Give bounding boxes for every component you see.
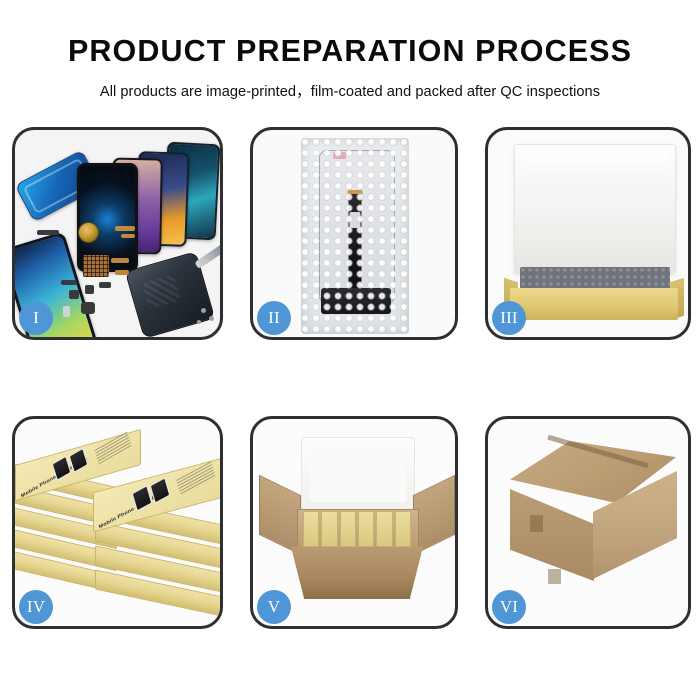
camera-module-icon (81, 302, 95, 314)
screw-icon (209, 316, 214, 321)
part-square-icon (85, 285, 94, 294)
flex-cable-icon (121, 234, 135, 238)
page-title: PRODUCT PREPARATION PROCESS (0, 0, 700, 69)
yellow-box (358, 511, 374, 547)
carton-left-face (510, 489, 594, 581)
yellow-box-front (510, 288, 678, 320)
screw-icon (197, 320, 201, 324)
yellow-boxes-row (303, 511, 411, 547)
process-step-panel-3: III (485, 127, 691, 340)
carton-tape-mark (530, 515, 543, 532)
process-step-panel-6: VI (485, 416, 691, 629)
process-step-panel-2: II (250, 127, 458, 340)
page-subtitle: All products are image-printed，film-coat… (0, 69, 700, 101)
header: PRODUCT PREPARATION PROCESS All products… (0, 0, 700, 101)
step-badge-4: IV (19, 590, 53, 624)
process-steps-grid: I II (12, 127, 693, 629)
screw-icon (201, 308, 206, 313)
flex-cable-icon (115, 226, 135, 231)
step-badge-5: V (257, 590, 291, 624)
step-badge-3: III (492, 301, 526, 335)
flex-cable-icon (111, 258, 129, 263)
yellow-box (303, 511, 319, 547)
foam-lid-icon (514, 144, 676, 274)
yellow-box (321, 511, 337, 547)
process-step-panel-5: V (250, 416, 458, 629)
foam-liner-icon (301, 437, 415, 511)
step-badge-2: II (257, 301, 291, 335)
flex-cable-icon (115, 270, 129, 275)
notch-icon (98, 166, 118, 171)
product-preparation-infographic: PRODUCT PREPARATION PROCESS All products… (0, 0, 700, 700)
carton-right-flap (413, 475, 455, 555)
chip-grid-icon (83, 255, 109, 277)
carton-front-face (291, 547, 423, 599)
process-step-panel-1: I (12, 127, 223, 340)
yellow-box (340, 511, 356, 547)
part-square-icon (69, 290, 79, 299)
part-strip-icon (99, 282, 111, 288)
sim-tray-icon (63, 306, 70, 317)
yellow-box (376, 511, 392, 547)
part-strip-icon (61, 280, 77, 285)
bubble-texture (301, 138, 409, 334)
step-badge-1: I (19, 301, 53, 335)
tweezer-icon (194, 239, 220, 269)
bubble-wrap-bag (301, 138, 409, 334)
carton-tape-mark (548, 569, 561, 584)
yellow-box (395, 511, 411, 547)
speaker-coil-icon (78, 222, 99, 243)
carton-left-flap (259, 475, 301, 555)
step-badge-6: VI (492, 590, 526, 624)
process-step-panel-4: Mobile Phone Spare Parts Mobile Phone Sp… (12, 416, 223, 629)
part-strip-icon (37, 230, 59, 235)
